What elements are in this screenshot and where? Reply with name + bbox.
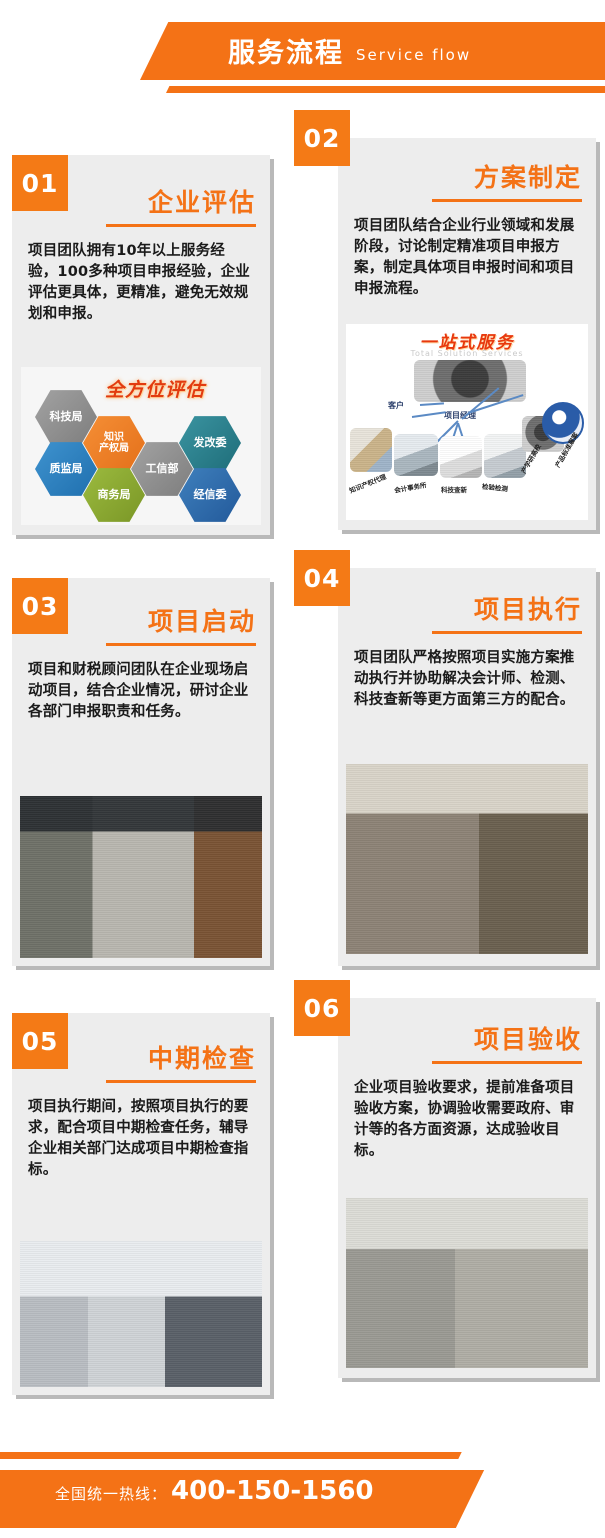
card-body-06: 企业项目验收要求，提前准备项目验收方案，协调验收需要政府、审计等的各方面资源，达… [338, 1064, 596, 1172]
card-body-04: 项目团队严格按照项目实施方案推动执行并协助解决会计师、检测、科技查新等更方面第三… [338, 634, 596, 721]
hex-node-label: 质监局 [50, 463, 83, 476]
page-subtitle: Service flow [356, 43, 471, 63]
step-badge-01: 01 [12, 155, 68, 211]
page-header: 服务流程 Service flow [0, 0, 605, 120]
card-title-06: 项目验收 [338, 998, 596, 1056]
hotline-label: 全国统一热线： [55, 1483, 167, 1504]
step-number-05: 05 [22, 1027, 59, 1056]
step-number-03: 03 [22, 592, 59, 621]
one-stop-service-diagram: 一站式服务 Total Solution Services 客户 项目经理 知识… [346, 324, 588, 520]
card-photo-04 [346, 764, 588, 954]
card-photo-06 [346, 1198, 588, 1368]
hex-node-label: 科技局 [50, 411, 83, 424]
step-card-02: 方案制定 项目团队结合企业行业领域和发展阶段，讨论制定精准项目申报方案，制定具体… [338, 138, 596, 530]
step-badge-06: 06 [294, 980, 350, 1036]
hex-infographic: 全方位评估 科技局 知识产权局 质监局 商务局 工信部 发改委 经信委 [21, 367, 261, 525]
step-badge-03: 03 [12, 578, 68, 634]
hex-infographic-title: 全方位评估 [105, 375, 205, 402]
card-body-05: 项目执行期间，按照项目执行的要求，配合项目中期检查任务，辅导企业相关部门达成项目… [12, 1083, 270, 1191]
oss-partner-label: 检验检测 [482, 481, 509, 494]
oss-hero-photo [414, 360, 526, 402]
card-title-04: 项目执行 [338, 568, 596, 626]
oss-partner-photo-novelty [440, 436, 482, 478]
step-badge-05: 05 [12, 1013, 68, 1069]
header-title-group: 服务流程 Service flow [228, 30, 471, 76]
footer-hotline-group: 全国统一热线： 400-150-1560 [55, 1476, 374, 1522]
hex-node-label: 商务局 [98, 489, 131, 502]
oss-partner-label: 会计事务所 [393, 479, 427, 494]
header-accent-stripe [166, 86, 605, 93]
hotline-number[interactable]: 400-150-1560 [171, 1476, 374, 1506]
oss-arrow [420, 402, 444, 406]
oss-arrow [412, 411, 446, 418]
step-badge-04: 04 [294, 550, 350, 606]
step-number-01: 01 [22, 169, 59, 198]
oss-partner-label: 科技查新 [441, 484, 467, 494]
step-badge-02: 02 [294, 110, 350, 166]
step-card-06: 项目验收 企业项目验收要求，提前准备项目验收方案，协调验收需要政府、审计等的各方… [338, 998, 596, 1378]
card-body-03: 项目和财税顾问团队在企业现场启动项目，结合企业情况，研讨企业各部门申报职责和任务… [12, 646, 270, 733]
hex-node-label: 工信部 [146, 463, 179, 476]
oss-partner-label: 知识产权代理 [348, 471, 388, 495]
hex-node-label: 发改委 [194, 437, 227, 450]
card-title-02: 方案制定 [338, 138, 596, 194]
step-number-02: 02 [304, 124, 341, 153]
step-card-03: 项目启动 项目和财税顾问团队在企业现场启动项目，结合企业情况，研讨企业各部门申报… [12, 578, 270, 966]
oss-partner-photo-accounting [394, 434, 438, 476]
card-body-01: 项目团队拥有10年以上服务经验，100多种项目申报经验，企业评估更具体，更精准，… [12, 227, 270, 335]
card-body-02: 项目团队结合企业行业领域和发展阶段，讨论制定精准项目申报方案，制定具体项目申报时… [338, 202, 596, 310]
service-flow-infographic: 服务流程 Service flow 企业评估 项目团队拥有10年以上服务经验，1… [0, 0, 605, 1538]
step-card-04: 项目执行 项目团队严格按照项目实施方案推动执行并协助解决会计师、检测、科技查新等… [338, 568, 596, 966]
footer-accent-stripe [0, 1452, 462, 1459]
step-number-06: 06 [304, 994, 341, 1023]
page-footer: 全国统一热线： 400-150-1560 [0, 1418, 605, 1538]
oss-subtitle: Total Solution Services [410, 349, 523, 358]
step-number-04: 04 [304, 564, 341, 593]
hex-node-label: 经信委 [194, 489, 227, 502]
page-title: 服务流程 [228, 40, 344, 67]
card-photo-03 [20, 796, 262, 958]
card-photo-05 [20, 1241, 262, 1387]
oss-partner-photo-ip [350, 428, 392, 472]
step-card-05: 中期检查 项目执行期间，按照项目执行的要求，配合项目中期检查任务，辅导企业相关部… [12, 1013, 270, 1395]
step-card-01: 企业评估 项目团队拥有10年以上服务经验，100多种项目申报经验，企业评估更具体… [12, 155, 270, 535]
hex-node-label: 知识产权局 [99, 432, 129, 455]
oss-node-customer: 客户 [388, 400, 404, 411]
